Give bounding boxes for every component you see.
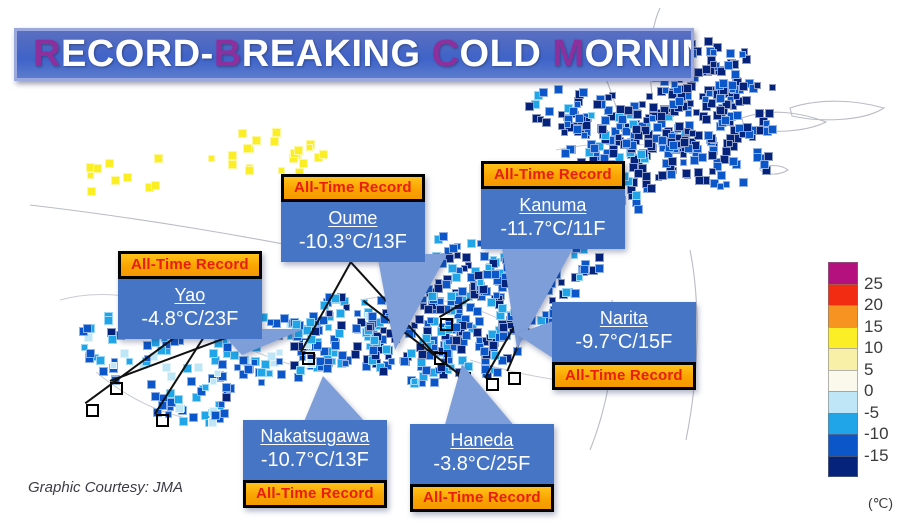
station-cell	[649, 115, 656, 122]
station-cell	[105, 159, 114, 168]
station-cell	[126, 358, 133, 365]
station-cell	[698, 153, 707, 162]
callout-place-haneda: Haneda	[450, 429, 513, 452]
station-cell	[726, 140, 733, 147]
station-cell	[579, 88, 588, 97]
station-cell	[658, 136, 667, 145]
colorbar-tick: 0	[864, 382, 873, 399]
callout-place-oume: Oume	[328, 207, 377, 230]
station-cell	[338, 351, 347, 360]
station-cell	[473, 328, 482, 337]
station-cell	[93, 164, 102, 173]
callout-temp-haneda: -3.8°C/25F	[422, 452, 542, 476]
colorbar-tick: 20	[864, 296, 883, 313]
station-cell	[96, 356, 105, 365]
station-cell	[439, 232, 448, 241]
station-cell	[258, 379, 265, 386]
station-cell	[616, 123, 623, 130]
station-cell	[575, 114, 584, 123]
station-cell	[462, 253, 471, 262]
colorbar-tick: -15	[864, 447, 889, 464]
callout-narita[interactable]: Narita -9.7°C/15F All-Time Record	[552, 302, 696, 390]
station-cell	[292, 320, 301, 329]
weather-graphic: RECORD-BREAKING COLD MORNING All-Time Re…	[0, 0, 900, 528]
station-cell	[419, 380, 426, 387]
station-cell	[667, 170, 676, 179]
station-cell	[331, 350, 338, 357]
callout-temp-narita: -9.7°C/15F	[564, 330, 684, 354]
station-cell	[639, 101, 646, 108]
station-cell	[643, 117, 650, 124]
callout-body-haneda: Haneda -3.8°C/25F	[410, 424, 554, 484]
graphic-credit: Graphic Courtesy: JMA	[28, 479, 183, 496]
station-cell	[479, 285, 488, 294]
station-cell	[593, 100, 602, 109]
station-cell	[634, 205, 643, 214]
callout-tail-nakatsugawa	[303, 376, 367, 424]
station-cell	[708, 151, 717, 160]
station-cell	[668, 157, 677, 166]
station-cell	[682, 169, 691, 178]
callout-place-kanuma: Kanuma	[519, 194, 586, 217]
station-cell	[733, 111, 742, 120]
colorbar-swatches	[828, 262, 858, 477]
station-cell	[615, 134, 622, 141]
station-cell	[366, 324, 373, 331]
callout-kanuma[interactable]: All-Time Record Kanuma -11.7°C/11F	[481, 161, 625, 249]
station-cell	[487, 298, 496, 307]
station-cell	[222, 383, 231, 392]
station-cell	[323, 364, 332, 373]
station-cell	[558, 111, 565, 118]
station-cell	[580, 265, 589, 274]
station-cell	[728, 81, 737, 90]
title-banner: RECORD-BREAKING COLD MORNING	[14, 28, 694, 81]
callout-nakatsugawa[interactable]: Nakatsugawa -10.7°C/13F All-Time Record	[243, 420, 387, 508]
colorbar-swatch	[828, 391, 858, 413]
station-cell	[769, 84, 776, 91]
station-cell	[646, 93, 653, 100]
station-cell	[238, 129, 247, 138]
colorbar-swatch	[828, 327, 858, 349]
badge-all-time-record-yao: All-Time Record	[118, 251, 262, 279]
station-cell	[87, 187, 96, 196]
station-cell	[545, 107, 554, 116]
station-cell	[561, 149, 570, 158]
colorbar-tick: 5	[864, 361, 873, 378]
station-cell	[418, 350, 427, 359]
station-cell	[368, 312, 377, 321]
station-cell	[731, 70, 740, 79]
callout-place-yao: Yao	[175, 284, 206, 307]
station-cell	[675, 122, 684, 131]
callout-body-kanuma: Kanuma -11.7°C/11F	[481, 189, 625, 249]
station-cell	[733, 93, 740, 100]
station-cell	[722, 147, 731, 156]
station-cell	[299, 159, 308, 168]
station-cell	[754, 82, 761, 89]
station-cell	[624, 106, 633, 115]
station-cell	[86, 349, 95, 358]
station-cell	[675, 97, 684, 106]
station-cell	[87, 172, 94, 179]
station-cell	[325, 324, 332, 331]
station-cell	[598, 125, 607, 134]
station-cell	[704, 37, 713, 46]
station-cell	[179, 417, 188, 426]
station-cell	[187, 377, 196, 386]
callout-body-yao: Yao -4.8°C/23F	[118, 279, 262, 339]
station-cell	[694, 68, 703, 77]
station-cell	[742, 96, 751, 105]
station-cell	[214, 370, 221, 377]
station-cell	[473, 307, 482, 316]
station-cell	[726, 49, 735, 58]
station-cell	[294, 146, 303, 155]
station-cell	[695, 176, 704, 185]
station-cell	[354, 310, 361, 317]
station-cell	[280, 314, 289, 323]
callout-body-nakatsugawa: Nakatsugawa -10.7°C/13F	[243, 420, 387, 480]
station-cell	[336, 309, 345, 318]
station-cell	[452, 273, 461, 282]
station-cell	[228, 151, 237, 160]
station-cell	[480, 252, 489, 261]
callout-tail-narita	[516, 320, 556, 360]
station-cell	[716, 106, 725, 115]
station-cell	[352, 324, 361, 333]
station-cell	[564, 121, 571, 128]
station-cell	[104, 316, 113, 325]
station-cell	[267, 319, 274, 326]
station-cell	[702, 115, 711, 124]
station-cell	[120, 349, 129, 358]
station-cell	[702, 96, 709, 103]
station-cell	[252, 136, 261, 145]
station-cell	[644, 139, 653, 148]
colorbar-tick-labels: 2520151050-5-10-15	[864, 262, 900, 477]
station-cell	[83, 324, 92, 333]
station-cell	[154, 154, 163, 163]
colorbar-tick: 25	[864, 275, 883, 292]
callout-temp-yao: -4.8°C/23F	[130, 307, 250, 331]
station-cell	[710, 49, 717, 56]
badge-all-time-record-haneda: All-Time Record	[410, 484, 554, 512]
station-cell	[243, 144, 252, 153]
station-cell	[704, 131, 713, 140]
station-cell	[272, 128, 281, 137]
station-cell	[588, 112, 595, 119]
station-cell	[189, 413, 198, 422]
callout-temp-oume: -10.3°C/13F	[293, 230, 413, 254]
station-cell	[162, 363, 171, 372]
station-cell	[709, 168, 716, 175]
station-cell	[123, 173, 132, 182]
station-cell	[653, 123, 662, 132]
station-cell	[466, 322, 473, 329]
colorbar-swatch	[828, 305, 858, 327]
station-cell	[454, 252, 461, 259]
station-cell	[632, 125, 641, 134]
station-cell	[462, 331, 471, 340]
station-cell	[685, 110, 692, 117]
colorbar-tick: 15	[864, 318, 883, 335]
station-cell	[278, 167, 285, 174]
station-cell	[574, 101, 581, 108]
station-cell	[489, 341, 498, 350]
station-cell	[649, 103, 658, 112]
station-cell	[400, 357, 409, 366]
station-cell	[576, 274, 583, 281]
page-title: RECORD-BREAKING COLD MORNING	[33, 33, 694, 76]
station-cell	[622, 139, 631, 148]
colorbar-swatch	[828, 434, 858, 456]
callout-body-oume: Oume -10.3°C/13F	[281, 202, 425, 262]
callout-haneda[interactable]: Haneda -3.8°C/25F All-Time Record	[410, 424, 554, 512]
callout-body-narita: Narita -9.7°C/15F	[552, 302, 696, 362]
station-cell	[257, 368, 266, 377]
station-cell	[671, 81, 678, 88]
station-cell	[218, 401, 225, 408]
station-cell	[234, 364, 241, 371]
colorbar-tick: -10	[864, 425, 889, 442]
temperature-colorbar: 2520151050-5-10-15 (℃)	[828, 262, 858, 477]
station-cell	[430, 378, 439, 387]
station-cell	[209, 349, 218, 358]
colorbar-swatch	[828, 456, 858, 478]
station-cell	[662, 87, 669, 94]
station-cell	[228, 160, 237, 169]
callout-oume[interactable]: All-Time Record Oume -10.3°C/13F	[281, 174, 425, 262]
station-cell	[467, 239, 476, 248]
station-cell	[716, 94, 725, 103]
station-cell	[111, 176, 120, 185]
station-cell	[151, 392, 160, 401]
badge-all-time-record-nakatsugawa: All-Time Record	[243, 480, 387, 508]
station-cell	[605, 94, 612, 101]
colorbar-swatch	[828, 348, 858, 370]
station-cell	[218, 360, 227, 369]
station-cell	[422, 366, 431, 375]
station-cell	[447, 292, 456, 301]
colorbar-swatch	[828, 370, 858, 392]
station-cell	[388, 358, 395, 365]
station-cell	[542, 118, 551, 127]
station-cell	[609, 149, 618, 158]
station-cell	[411, 378, 418, 385]
station-cell	[342, 360, 349, 367]
station-cell	[739, 82, 748, 91]
station-cell	[245, 166, 254, 175]
station-cell	[634, 169, 643, 178]
colorbar-unit-label: (℃)	[868, 495, 893, 512]
station-cell	[739, 131, 746, 138]
station-cell	[266, 370, 273, 377]
station-cell	[99, 367, 108, 376]
station-cell	[147, 380, 156, 389]
station-cell	[693, 109, 700, 116]
colorbar-swatch	[828, 262, 858, 284]
station-cell	[710, 61, 717, 68]
station-cell	[554, 85, 563, 94]
station-cell	[251, 359, 258, 366]
station-cell	[210, 378, 217, 385]
station-cell	[335, 329, 344, 338]
station-cell	[642, 172, 651, 181]
station-cell	[452, 336, 461, 345]
station-cell	[724, 61, 733, 70]
station-cell	[687, 100, 694, 107]
station-cell	[175, 404, 184, 413]
station-cell	[525, 102, 534, 111]
badge-all-time-record-oume: All-Time Record	[281, 174, 425, 202]
station-cell	[476, 337, 483, 344]
station-cell	[475, 317, 484, 326]
station-cell	[319, 150, 328, 159]
station-cell	[680, 138, 689, 147]
station-cell	[729, 157, 738, 166]
station-cell	[647, 184, 656, 193]
station-cell	[194, 363, 203, 372]
badge-all-time-record-kanuma: All-Time Record	[481, 161, 625, 189]
callout-yao[interactable]: All-Time Record Yao -4.8°C/23F	[118, 251, 262, 339]
station-cell	[721, 116, 730, 125]
station-cell	[244, 365, 253, 374]
station-cell	[760, 160, 769, 169]
station-cell	[222, 393, 231, 402]
callout-temp-kanuma: -11.7°C/11F	[493, 217, 613, 241]
station-cell	[719, 79, 728, 88]
callout-tail-haneda	[444, 364, 516, 428]
station-cell	[493, 292, 500, 299]
callout-place-nakatsugawa: Nakatsugawa	[260, 425, 369, 448]
badge-all-time-record-narita: All-Time Record	[552, 362, 696, 390]
station-cell	[590, 144, 599, 153]
station-cell	[632, 191, 641, 200]
callout-place-narita: Narita	[600, 307, 648, 330]
station-cell	[151, 181, 160, 190]
station-cell	[581, 132, 588, 139]
station-cell	[657, 112, 666, 121]
station-cell	[595, 253, 604, 262]
station-cell	[379, 367, 388, 376]
station-cell	[723, 181, 730, 188]
station-cell	[702, 65, 711, 74]
station-cell	[717, 171, 726, 180]
station-cell	[306, 144, 313, 151]
station-cell	[595, 264, 604, 273]
callout-tail-oume	[377, 254, 447, 350]
station-cell	[601, 116, 610, 125]
station-cell	[539, 88, 548, 97]
station-cell	[351, 350, 360, 359]
station-cell	[739, 51, 746, 58]
colorbar-tick: -5	[864, 404, 879, 421]
station-cell	[561, 129, 568, 136]
station-cell	[689, 130, 696, 137]
station-cell	[768, 125, 777, 134]
station-cell	[452, 323, 461, 332]
callout-temp-nakatsugawa: -10.7°C/13F	[255, 448, 375, 472]
station-cell	[457, 345, 466, 354]
station-cell	[296, 366, 305, 375]
station-cell	[680, 159, 687, 166]
station-cell	[270, 137, 279, 146]
station-cell	[220, 409, 229, 418]
station-cell	[353, 342, 362, 351]
colorbar-tick: 10	[864, 339, 883, 356]
station-cell	[208, 155, 215, 162]
station-cell	[739, 178, 748, 187]
station-cell	[174, 395, 183, 404]
station-cell	[110, 362, 117, 369]
station-cell	[633, 110, 642, 119]
station-cell	[477, 279, 484, 286]
station-cell	[491, 270, 500, 279]
colorbar-swatch	[828, 284, 858, 306]
station-cell	[637, 150, 646, 159]
station-cell	[211, 411, 220, 420]
highlighted-station-cell	[156, 414, 169, 427]
highlighted-station-cell	[86, 404, 99, 417]
station-cell	[277, 370, 286, 379]
station-cell	[683, 84, 692, 93]
colorbar-swatch	[828, 413, 858, 435]
station-cell	[331, 341, 340, 350]
station-cell	[480, 347, 489, 356]
station-cell	[202, 384, 209, 391]
station-cell	[276, 358, 283, 365]
station-cell	[458, 287, 467, 296]
station-cell	[658, 171, 667, 180]
station-cell	[108, 335, 117, 344]
